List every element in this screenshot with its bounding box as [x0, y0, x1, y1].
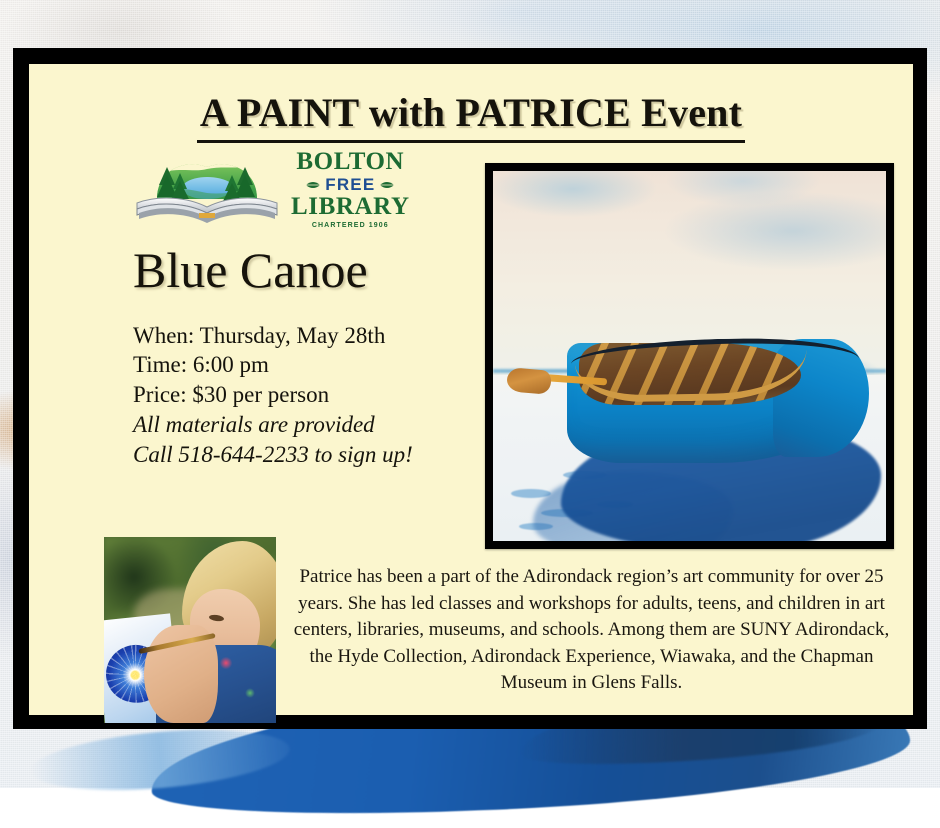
painting-frame: [485, 163, 894, 549]
open-book-icon: [133, 151, 281, 225]
event-details: When: Thursday, May 28th Time: 6:00 pm P…: [133, 321, 483, 470]
page-title: A PAINT with PATRICE Event: [29, 89, 913, 143]
left-column: BOLTON FREE LIBRARY CHARTERED 1906: [133, 150, 483, 470]
detail-price: Price: $30 per person: [133, 380, 483, 410]
logo-chartered-text: CHARTERED 1906: [312, 222, 389, 229]
logo-wordmark: BOLTON FREE LIBRARY CHARTERED 1906: [291, 147, 410, 229]
logo-bolton-text: BOLTON: [296, 149, 404, 174]
detail-time: Time: 6:00 pm: [133, 350, 483, 380]
logo-free-text: FREE: [325, 176, 375, 193]
leaf-ornament-right-icon: [379, 181, 395, 189]
event-title: Blue Canoe: [133, 244, 483, 297]
blue-canoe-painting: [493, 171, 886, 541]
flyer-paper: A PAINT with PATRICE Event: [29, 64, 913, 715]
leaf-ornament-left-icon: [305, 181, 321, 189]
detail-signup-phone: Call 518-644-2233 to sign up!: [133, 440, 483, 470]
detail-when: When: Thursday, May 28th: [133, 321, 483, 351]
library-logo: BOLTON FREE LIBRARY CHARTERED 1906: [133, 150, 483, 226]
artist-photo: [104, 537, 276, 723]
artist-bio: Patrice has been a part of the Adirondac…: [284, 564, 899, 697]
logo-free-row: FREE: [305, 176, 395, 193]
logo-library-text: LIBRARY: [291, 194, 410, 219]
page-title-text: A PAINT with PATRICE Event: [197, 89, 745, 143]
detail-materials: All materials are provided: [133, 410, 483, 440]
flyer-black-frame: A PAINT with PATRICE Event: [13, 48, 927, 729]
